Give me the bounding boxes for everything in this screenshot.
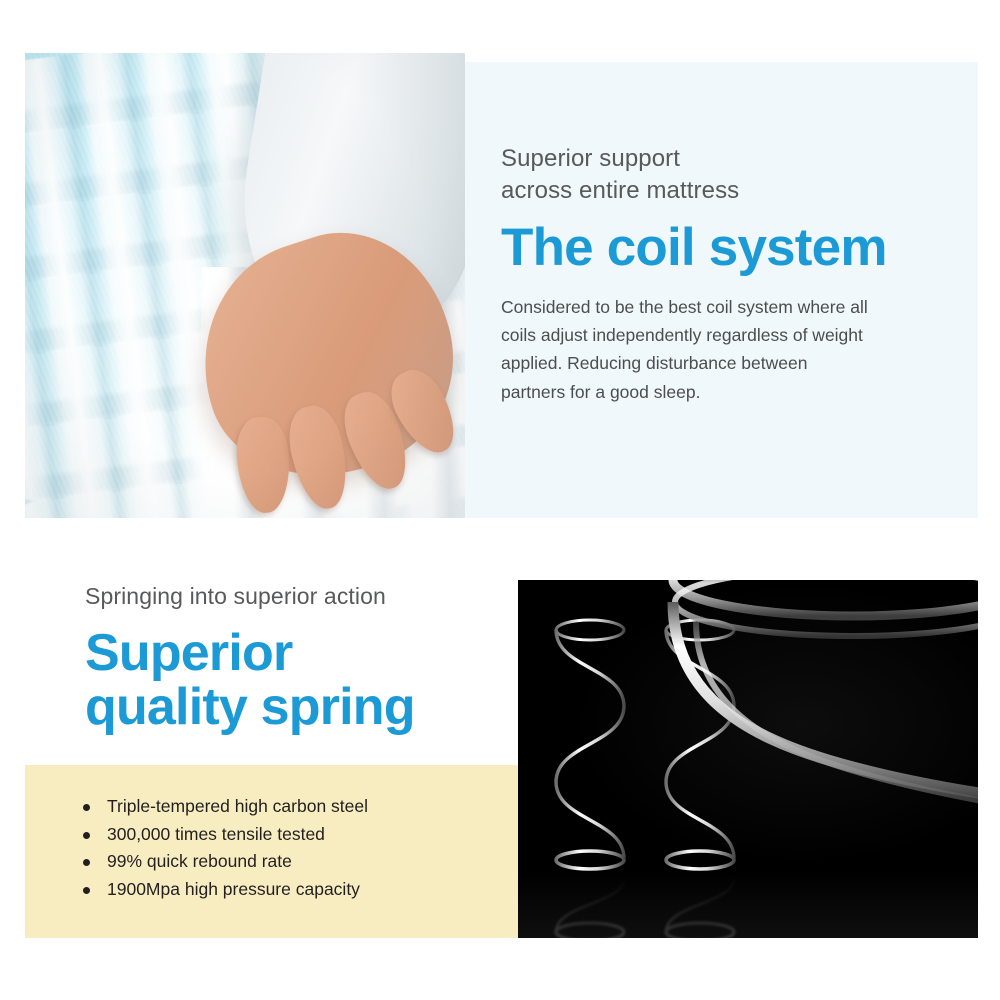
top-body-copy: Considered to be the best coil system wh… bbox=[501, 293, 871, 406]
spring-coil-closeup bbox=[638, 580, 978, 876]
bottom-headline-line-2: quality spring bbox=[85, 680, 505, 734]
bullet-dot-icon bbox=[83, 859, 90, 866]
pocket-spring-mattress-hand-photo bbox=[25, 53, 465, 518]
features-panel: Triple-tempered high carbon steel300,000… bbox=[25, 765, 520, 938]
bottom-eyebrow: Springing into superior action bbox=[85, 583, 505, 611]
top-section-text-block: Superior support across entire mattress … bbox=[501, 143, 901, 406]
feature-item-label: 1900Mpa high pressure capacity bbox=[107, 879, 360, 899]
feature-item: 1900Mpa high pressure capacity bbox=[83, 876, 368, 904]
feature-item-label: 99% quick rebound rate bbox=[107, 851, 292, 871]
bottom-headline: Superior quality spring bbox=[85, 626, 505, 734]
bullet-dot-icon bbox=[83, 887, 90, 894]
bullet-dot-icon bbox=[83, 832, 90, 839]
spring-floor-glow bbox=[518, 872, 978, 938]
spring-coil-left bbox=[546, 614, 634, 882]
bullet-dot-icon bbox=[83, 804, 90, 811]
photo-vignette bbox=[25, 53, 465, 518]
feature-list: Triple-tempered high carbon steel300,000… bbox=[83, 793, 368, 904]
top-eyebrow-line-1: Superior support bbox=[501, 143, 901, 175]
steel-springs-black-background-photo bbox=[518, 580, 978, 938]
top-headline: The coil system bbox=[501, 220, 901, 276]
feature-item-label: Triple-tempered high carbon steel bbox=[107, 796, 368, 816]
feature-item-label: 300,000 times tensile tested bbox=[107, 824, 325, 844]
product-infographic-page: Superior support across entire mattress … bbox=[0, 0, 1000, 1000]
bottom-section-text-block: Springing into superior action Superior … bbox=[85, 583, 505, 734]
top-eyebrow: Superior support across entire mattress bbox=[501, 143, 901, 206]
feature-item: 300,000 times tensile tested bbox=[83, 821, 368, 849]
bottom-headline-line-1: Superior bbox=[85, 626, 505, 680]
feature-item: 99% quick rebound rate bbox=[83, 848, 368, 876]
top-eyebrow-line-2: across entire mattress bbox=[501, 175, 901, 207]
feature-item: Triple-tempered high carbon steel bbox=[83, 793, 368, 821]
